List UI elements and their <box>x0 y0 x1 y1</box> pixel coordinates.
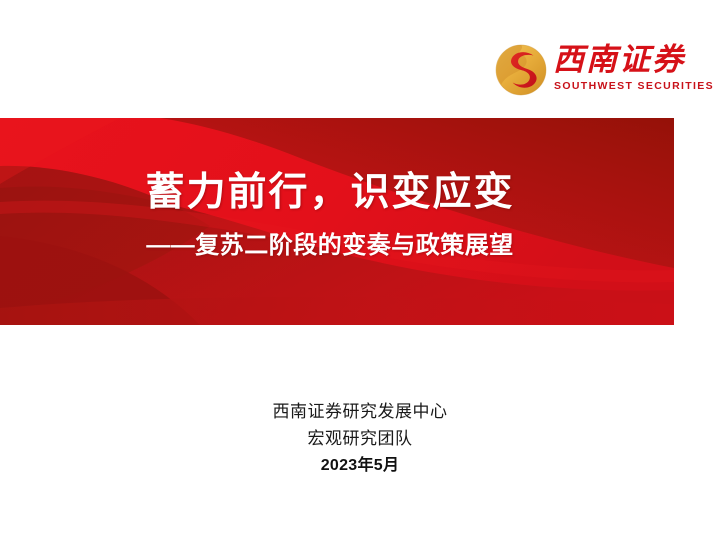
presentation-date: 2023年5月 <box>0 452 720 480</box>
research-team-name: 宏观研究团队 <box>0 425 720 452</box>
logo-chinese-name: 西南证券 <box>553 40 693 80</box>
banner-text-group: 蓄力前行，识变应变 ——复苏二阶段的变奏与政策展望 <box>0 118 674 325</box>
title-banner: 蓄力前行，识变应变 ——复苏二阶段的变奏与政策展望 <box>0 118 674 325</box>
slide-title: 蓄力前行，识变应变 <box>0 170 660 216</box>
logo-english-name: SOUTHWEST SECURITIES <box>554 80 696 92</box>
credits-block: 西南证券研究发展中心 宏观研究团队 2023年5月 <box>0 398 720 480</box>
slide-subtitle: ——复苏二阶段的变奏与政策展望 <box>0 230 660 262</box>
research-center-name: 西南证券研究发展中心 <box>0 398 720 425</box>
southwest-securities-emblem-icon <box>495 44 547 96</box>
company-logo: 西南证券 SOUTHWEST SECURITIES <box>495 42 695 104</box>
logo-wordmark: 西南证券 SOUTHWEST SECURITIES <box>553 42 693 100</box>
presentation-title-slide: 西南证券 SOUTHWEST SECURITIES <box>0 0 720 540</box>
